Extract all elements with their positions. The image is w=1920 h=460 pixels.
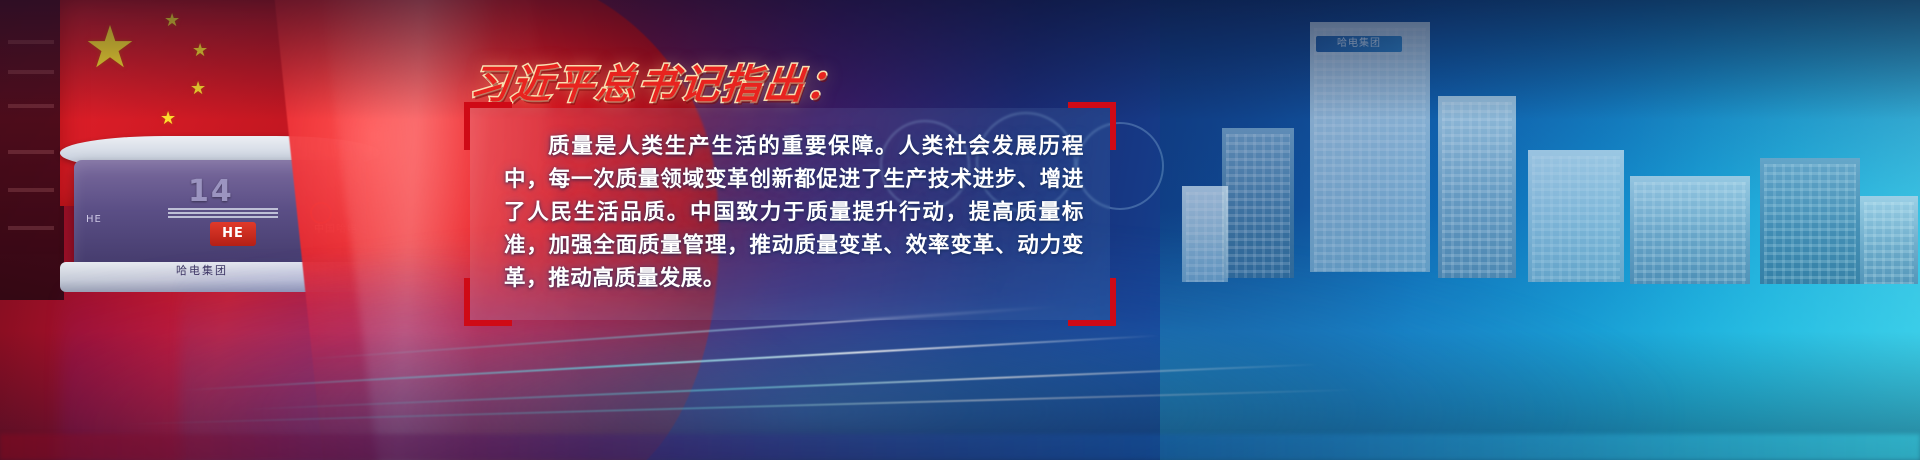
quote-panel: 质量是人类生产生活的重要保障。人类社会发展历程中，每一次质量领域变革创新都促进了… [470,108,1110,320]
banner-root: 哈电集团 ★ ★ ★ ★ ★ 14 HE 哈电集团 中国哈电 [0,0,1920,460]
bottom-light-band [0,434,1920,460]
page-title: 习近平总书记指出： [467,52,851,110]
quote-text: 质量是人类生产生活的重要保障。人类社会发展历程中，每一次质量领域变革创新都促进了… [504,130,1084,295]
